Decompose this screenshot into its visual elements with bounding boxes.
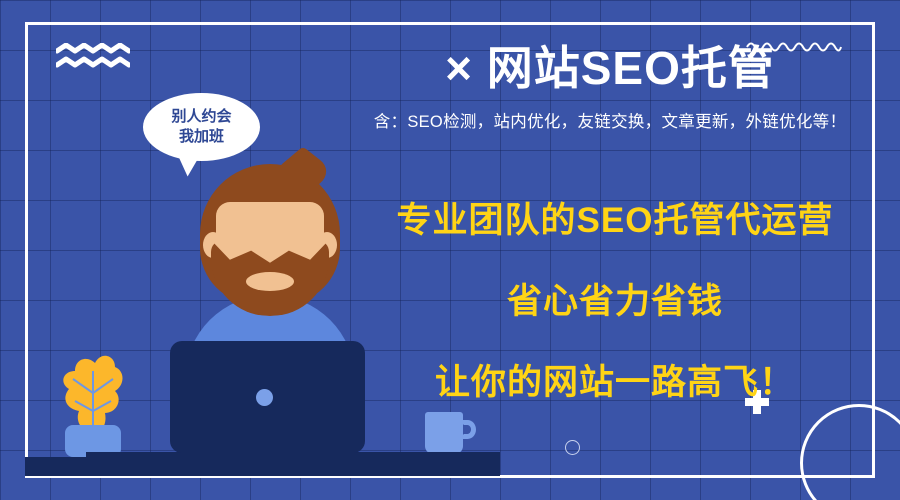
zigzag-lines-icon [56, 43, 130, 69]
title-text: 网站SEO托管 [487, 42, 775, 94]
laptop-logo-dot-icon [256, 389, 273, 406]
page-title: × 网站SEO托管 [330, 44, 890, 94]
small-circle-outline-decoration [565, 440, 580, 455]
slogan-line-1: 专业团队的SEO托管代运营 [370, 192, 860, 243]
seo-promo-banner: × 网站SEO托管 含：SEO检测，站内优化，友链交换，文章更新，外链优化等！ … [0, 0, 900, 500]
slogan-block: 专业团队的SEO托管代运营 省心省力省钱 让你的网站一路高飞！ [370, 192, 860, 405]
page-subtitle: 含：SEO检测，站内优化，友链交换，文章更新，外链优化等！ [330, 108, 890, 132]
potted-plant [55, 345, 131, 455]
speech-bubble-line-1: 别人约会 [171, 107, 231, 127]
desk-surface [86, 452, 500, 476]
speech-bubble: 别人约会 我加班 [143, 93, 260, 161]
slogan-line-3: 让你的网站一路高飞！ [370, 354, 860, 405]
slogan-line-2: 省心省力省钱 [370, 273, 860, 324]
coffee-mug [425, 412, 463, 454]
speech-bubble-line-2: 我加班 [179, 127, 224, 147]
headline-block: × 网站SEO托管 含：SEO检测，站内优化，友链交换，文章更新，外链优化等！ [330, 44, 890, 132]
desk-edge [25, 457, 107, 476]
speech-bubble-text: 别人约会 我加班 [143, 93, 260, 161]
circle-outline-decoration [800, 404, 900, 500]
title-bullet-mark: × [445, 42, 473, 94]
mouth [246, 272, 294, 291]
